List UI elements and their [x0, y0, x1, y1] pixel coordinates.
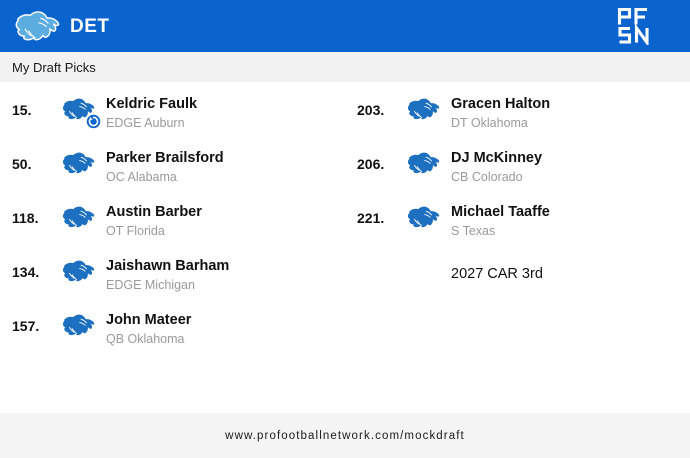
section-title: My Draft Picks	[12, 61, 96, 74]
player-position-school: QB Oklahoma	[106, 331, 345, 347]
footer-url: www.profootballnetwork.com/mockdraft	[225, 430, 465, 442]
player-name: Keldric Faulk	[106, 95, 345, 113]
detroit-lions-logo-icon	[401, 148, 447, 176]
player-name: Michael Taaffe	[451, 203, 690, 221]
detroit-lions-logo-icon	[56, 310, 102, 338]
pick-info: Michael TaaffeS Texas	[447, 202, 690, 239]
draft-picks-right-column: 203.Gracen HaltonDT Oklahoma206.DJ McKin…	[345, 94, 690, 413]
pick-number: 118.	[12, 202, 56, 225]
player-position-school: OC Alabama	[106, 169, 345, 185]
pick-number: 15.	[12, 94, 56, 117]
player-position-school: EDGE Auburn	[106, 115, 345, 131]
draft-pick-row[interactable]: 15.Keldric FaulkEDGE Auburn	[12, 94, 345, 148]
footer-bar: www.profootballnetwork.com/mockdraft	[0, 413, 690, 458]
draft-pick-row[interactable]: 157.John MateerQB Oklahoma	[12, 310, 345, 364]
draft-pick-row[interactable]: 206.DJ McKinneyCB Colorado	[357, 148, 690, 202]
detroit-lions-logo-icon	[401, 202, 447, 230]
player-name: Gracen Halton	[451, 95, 690, 113]
pick-info: Gracen HaltonDT Oklahoma	[447, 94, 690, 131]
pick-info: John MateerQB Oklahoma	[102, 310, 345, 347]
player-name: Jaishawn Barham	[106, 257, 345, 275]
detroit-lions-logo-icon	[14, 7, 62, 45]
player-name: DJ McKinney	[451, 149, 690, 167]
pick-info: DJ McKinneyCB Colorado	[447, 148, 690, 185]
pick-number: 134.	[12, 256, 56, 279]
pick-number: 203.	[357, 94, 401, 117]
draft-picks-body: 15.Keldric FaulkEDGE Auburn50.Parker Bra…	[0, 82, 690, 413]
player-position-school: CB Colorado	[451, 169, 690, 185]
draft-pick-row[interactable]: 221.Michael TaaffeS Texas	[357, 202, 690, 256]
pick-info: 2027 CAR 3rd	[447, 256, 690, 283]
player-name: John Mateer	[106, 311, 345, 329]
team-abbreviation: DET	[70, 17, 110, 36]
detroit-lions-logo-icon	[56, 148, 102, 176]
mock-draft-card: DET My Draft Picks 15.Keldric FaulkEDGE …	[0, 0, 690, 458]
pick-info: Parker BrailsfordOC Alabama	[102, 148, 345, 185]
pick-info: Keldric FaulkEDGE Auburn	[102, 94, 345, 131]
team-header: DET	[0, 0, 690, 52]
trade-refresh-icon[interactable]	[86, 114, 101, 129]
player-position-school: OT Florida	[106, 223, 345, 239]
player-position-school: EDGE Michigan	[106, 277, 345, 293]
draft-picks-left-column: 15.Keldric FaulkEDGE Auburn50.Parker Bra…	[0, 94, 345, 413]
pick-info: Jaishawn BarhamEDGE Michigan	[102, 256, 345, 293]
detroit-lions-logo-icon	[56, 94, 102, 122]
draft-pick-row[interactable]: 134.Jaishawn BarhamEDGE Michigan	[12, 256, 345, 310]
draft-pick-row[interactable]: 118.Austin BarberOT Florida	[12, 202, 345, 256]
pick-number: 50.	[12, 148, 56, 171]
player-position-school: DT Oklahoma	[451, 115, 690, 131]
detroit-lions-logo-icon	[56, 202, 102, 230]
draft-pick-row[interactable]: 50.Parker BrailsfordOC Alabama	[12, 148, 345, 202]
pick-number: 221.	[357, 202, 401, 225]
pick-info: Austin BarberOT Florida	[102, 202, 345, 239]
pfsn-logo-icon	[616, 7, 674, 45]
player-position-school: S Texas	[451, 223, 690, 239]
pick-number: 206.	[357, 148, 401, 171]
detroit-lions-logo-icon	[56, 256, 102, 284]
pick-number: 157.	[12, 310, 56, 333]
draft-pick-row[interactable]: 203.Gracen HaltonDT Oklahoma	[357, 94, 690, 148]
player-name: Austin Barber	[106, 203, 345, 221]
player-name: Parker Brailsford	[106, 149, 345, 167]
section-header: My Draft Picks	[0, 52, 690, 82]
detroit-lions-logo-icon	[401, 94, 447, 122]
future-pick-row[interactable]: 2027 CAR 3rd	[357, 256, 690, 310]
future-pick-label: 2027 CAR 3rd	[451, 257, 690, 283]
